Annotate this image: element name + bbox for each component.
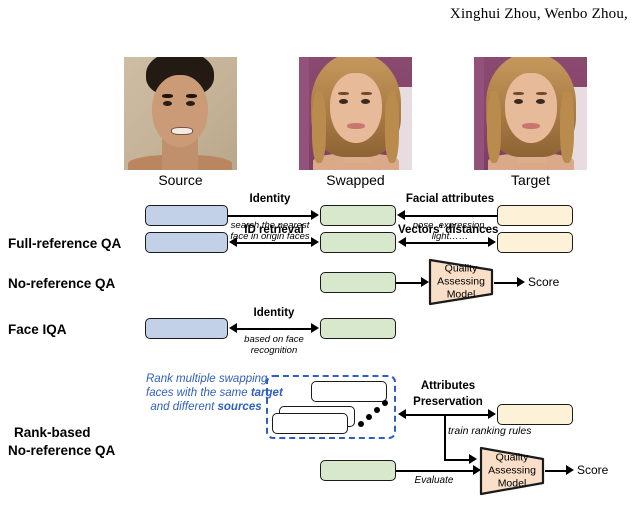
rank-score-line [545, 470, 567, 472]
row1-swapped-box [320, 205, 396, 226]
rank-note-line2: faces with the same target [146, 386, 266, 400]
row2-arrow-right-line [405, 242, 489, 244]
row2-arrow-left-head-right [311, 237, 319, 247]
rank-evaluate-label: Evaluate [398, 475, 470, 486]
row3-arrow-in-line [396, 282, 422, 284]
rank-attributes-arrow-head-right [488, 409, 496, 419]
row2-arrow-left-head-left [229, 237, 237, 247]
rank-attributes-title-line2: Preservation [400, 396, 496, 408]
rank-attributes-arrow-line [405, 414, 489, 416]
row1-identity-title: Identity [228, 193, 312, 205]
target-photo [474, 57, 587, 170]
row2-vectors-distances-title: Vectors’ distances [398, 224, 498, 236]
row1-facial-attributes-title: Facial attributes [400, 193, 500, 205]
swapped-photo-caption: Swapped [299, 172, 412, 188]
rank-note-line3-text: and different [150, 401, 217, 413]
rank-score-arrow-head [566, 465, 574, 475]
row4-identity-subtitle: based on face recognition [222, 334, 326, 356]
row2-swapped-box [320, 232, 396, 253]
row-label-full-reference-qa: Full-reference QA [8, 236, 121, 251]
rank-quality-assessing-model: Quality Assessing Model [479, 446, 545, 496]
row3-quality-assessing-model: Quality Assessing Model [428, 258, 494, 306]
row4-source-box [145, 318, 228, 339]
rank-attributes-arrow-head-left [398, 409, 406, 419]
rank-note-line3: and different sources [146, 400, 266, 414]
row1-arrow-left-line [228, 215, 312, 217]
target-photo-caption: Target [474, 172, 587, 188]
row4-identity-subtitle-line1: based on face [222, 334, 326, 345]
source-photo-caption: Source [124, 172, 237, 188]
row3-swapped-box [320, 272, 396, 293]
rank-candidate-box-3 [272, 413, 348, 434]
source-photo [124, 57, 237, 170]
row-label-face-iqa: Face IQA [8, 322, 67, 337]
row2-target-box [497, 232, 573, 253]
rank-description-note: Rank multiple swapping faces with the sa… [146, 372, 266, 414]
row4-identity-title: Identity [232, 307, 316, 319]
row-label-no-reference-qa: No-reference QA [8, 276, 115, 291]
row1-arrow-left-head [311, 210, 319, 220]
rank-candidate-box-1 [311, 381, 387, 402]
row2-id-retrieval-title: ID retrieval [232, 224, 316, 236]
row4-arrow-head-left [229, 323, 237, 333]
rank-train-hline [444, 459, 470, 461]
ellipsis-dots [356, 400, 392, 424]
row-label-rank-based-line2: No-reference QA [8, 443, 115, 458]
rank-note-line2-text: faces with the same [146, 387, 251, 399]
rank-train-vline [444, 414, 446, 460]
row2-arrow-right-head-left [398, 237, 406, 247]
rank-score-label: Score [577, 463, 608, 477]
row2-arrow-left-line [236, 242, 312, 244]
rank-evaluate-line [396, 470, 474, 472]
swapped-photo [299, 57, 412, 170]
row-label-rank-based-line1: Rank-based [14, 425, 91, 440]
row1-arrow-right-line [405, 215, 497, 217]
row1-target-box [497, 205, 573, 226]
row4-arrow-line [236, 328, 312, 330]
row2-arrow-right-head-right [488, 237, 496, 247]
row3-score-label: Score [528, 275, 559, 289]
rank-target-box [497, 404, 573, 425]
rank-attributes-title-line1: Attributes [400, 380, 496, 392]
row2-source-box [145, 232, 228, 253]
row4-swapped-box [320, 318, 396, 339]
row4-identity-subtitle-line2: recognition [222, 345, 326, 356]
author-line: Xinghui Zhou, Wenbo Zhou, [450, 6, 628, 23]
rank-train-ranking-rules-label: train ranking rules [448, 426, 568, 437]
rank-train-arrow-head [469, 454, 477, 464]
row3-arrow-out-line [494, 282, 518, 284]
rank-note-line1: Rank multiple swapping [146, 372, 266, 386]
rank-note-bold-sources: sources [218, 401, 262, 413]
row1-arrow-right-head [397, 210, 405, 220]
rank-swapped-box [320, 460, 396, 481]
row3-arrow-out-head [517, 277, 525, 287]
row4-arrow-head-right [311, 323, 319, 333]
